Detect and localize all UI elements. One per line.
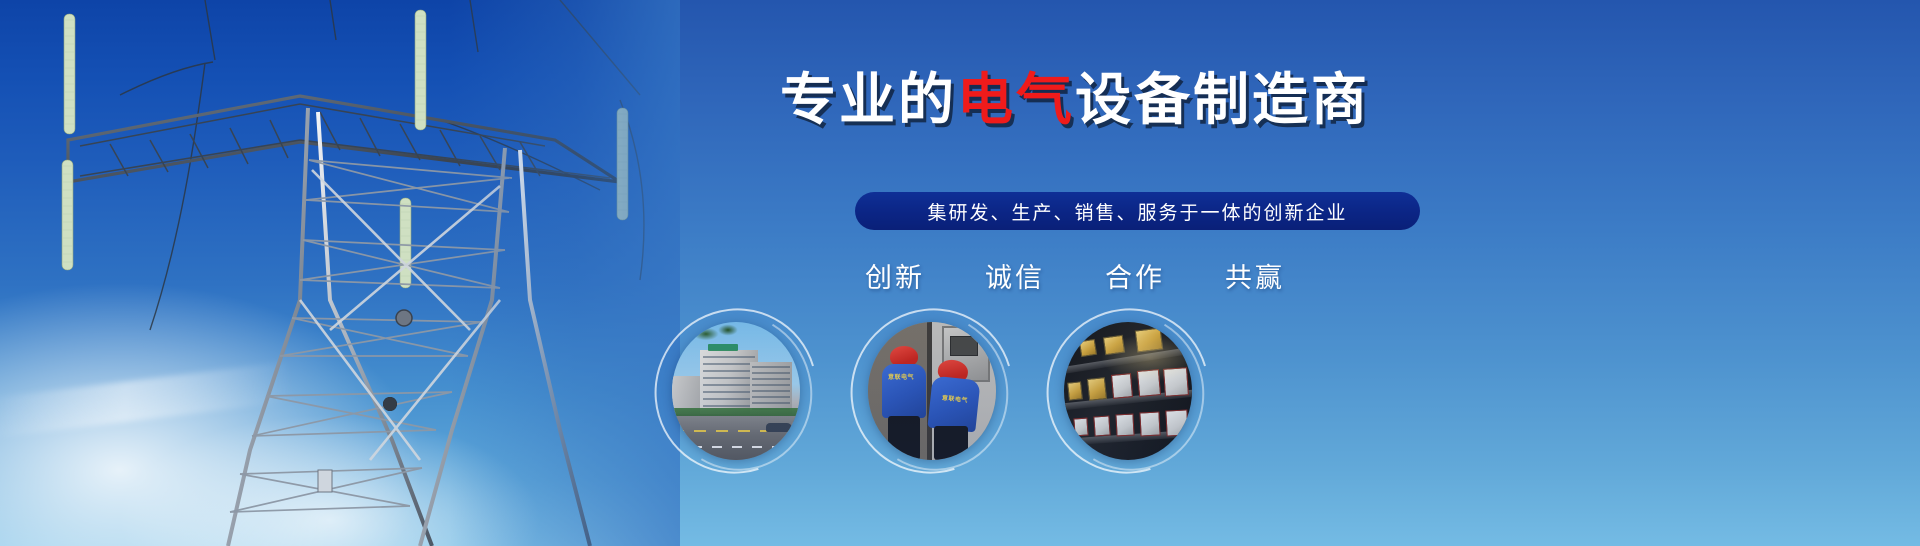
rooftop-sign <box>708 344 738 351</box>
office-building-photo <box>672 322 800 460</box>
worker-2-uniform <box>927 376 980 433</box>
worker-1-legs <box>888 416 920 460</box>
photo-circle-2[interactable]: 意联电气 意联电气 <box>856 316 1006 466</box>
photo-circle-group: 意联电气 意联电气 <box>660 316 1490 516</box>
workers-installing-photo: 意联电气 意联电气 <box>868 322 996 460</box>
spotlight-glow <box>1064 322 1192 460</box>
headline: 专业的电气设备制造商 <box>660 72 1490 128</box>
keyword-list: 创新 诚信 合作 共赢 <box>660 256 1490 295</box>
keyword-item-2: 诚信 <box>985 256 1045 295</box>
hero-banner: 专业的电气设备制造商 集研发、生产、销售、服务于一体的创新企业 创新 诚信 合作… <box>0 0 1920 546</box>
transmission-tower-photo <box>0 0 680 546</box>
building-right <box>750 362 792 414</box>
certificate-wall-photo <box>1064 322 1192 460</box>
photo-circle-1[interactable] <box>660 316 810 466</box>
tagline-text: 集研发、生产、销售、服务于一体的创新企业 <box>927 198 1347 225</box>
headline-prefix: 专业的 <box>780 68 957 131</box>
photo-circle-3[interactable] <box>1052 316 1202 466</box>
keyword-item-4: 共赢 <box>1225 256 1285 295</box>
banner-content: 专业的电气设备制造商 集研发、生产、销售、服务于一体的创新企业 创新 诚信 合作… <box>660 0 1920 546</box>
uniform-logo-1: 意联电气 <box>888 372 914 381</box>
worker-2-legs <box>934 426 968 460</box>
transmission-tower-icon <box>0 0 680 546</box>
headline-suffix: 设备制造商 <box>1075 68 1370 131</box>
tagline-pill: 集研发、生产、销售、服务于一体的创新企业 <box>855 192 1420 230</box>
car <box>766 423 792 432</box>
keyword-item-1: 创新 <box>865 256 925 295</box>
headline-accent: 电气 <box>957 68 1075 131</box>
keyword-item-3: 合作 <box>1105 256 1165 295</box>
